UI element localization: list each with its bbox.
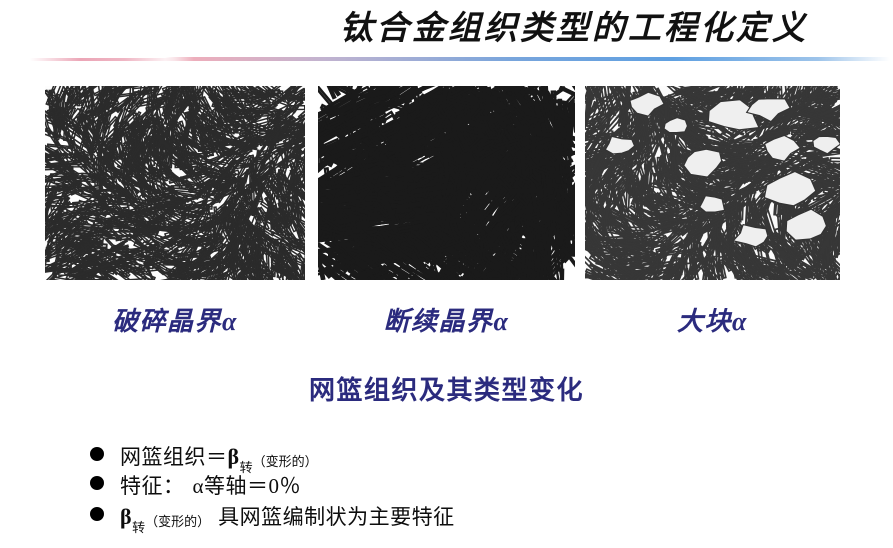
micrograph-caption-3: 大块α [585,300,840,338]
title-divider [0,56,893,64]
micrograph-row [0,86,893,282]
micrograph-image-2 [318,86,575,280]
micrograph-caption-2: 断续晶界α [318,300,575,338]
bullet-2-tail: α等轴＝0％ [193,474,302,498]
micrograph-caption-1: 破碎晶界α [45,300,305,338]
bullet-1-paren: （变形的） [253,454,318,469]
bullet-item-1: 网篮组织＝β转（变形的） [90,446,790,476]
bullet-dot-icon [90,507,104,521]
bullet-1-beta: β [228,444,240,469]
bullet-item-1-text: 网篮组织＝β转（变形的） [120,446,318,471]
bullet-3-beta-subscript: 转 [132,520,145,535]
bullet-dot-icon [90,476,104,490]
micrograph-image-3 [585,86,840,280]
bullet-1-lead: 网篮组织＝ [120,445,228,469]
bullet-3-paren: （变形的） [145,514,210,529]
bullet-item-2: 特征：α等轴＝0％ [90,476,790,506]
divider-accent-main [165,57,890,61]
bullet-item-3: β转（变形的）具网篮编制状为主要特征 [90,506,790,536]
micrograph-image-1 [45,86,305,280]
page-title: 钛合金组织类型的工程化定义 [340,2,885,48]
bullet-2-lead: 特征： [120,474,185,498]
bullet-item-2-text: 特征：α等轴＝0％ [120,476,301,497]
bullet-list: 网篮组织＝β转（变形的） 特征：α等轴＝0％ β转（变形的）具网篮编制状为主要特… [90,446,790,536]
divider-accent-left [30,58,175,61]
bullet-1-beta-subscript: 转 [240,460,253,475]
bullet-item-3-text: β转（变形的）具网篮编制状为主要特征 [120,506,455,531]
section-subtitle: 网篮组织及其类型变化 [0,370,893,407]
bullet-3-beta: β [120,504,132,529]
bullet-3-tail: 具网篮编制状为主要特征 [218,505,455,529]
bullet-dot-icon [90,447,104,461]
